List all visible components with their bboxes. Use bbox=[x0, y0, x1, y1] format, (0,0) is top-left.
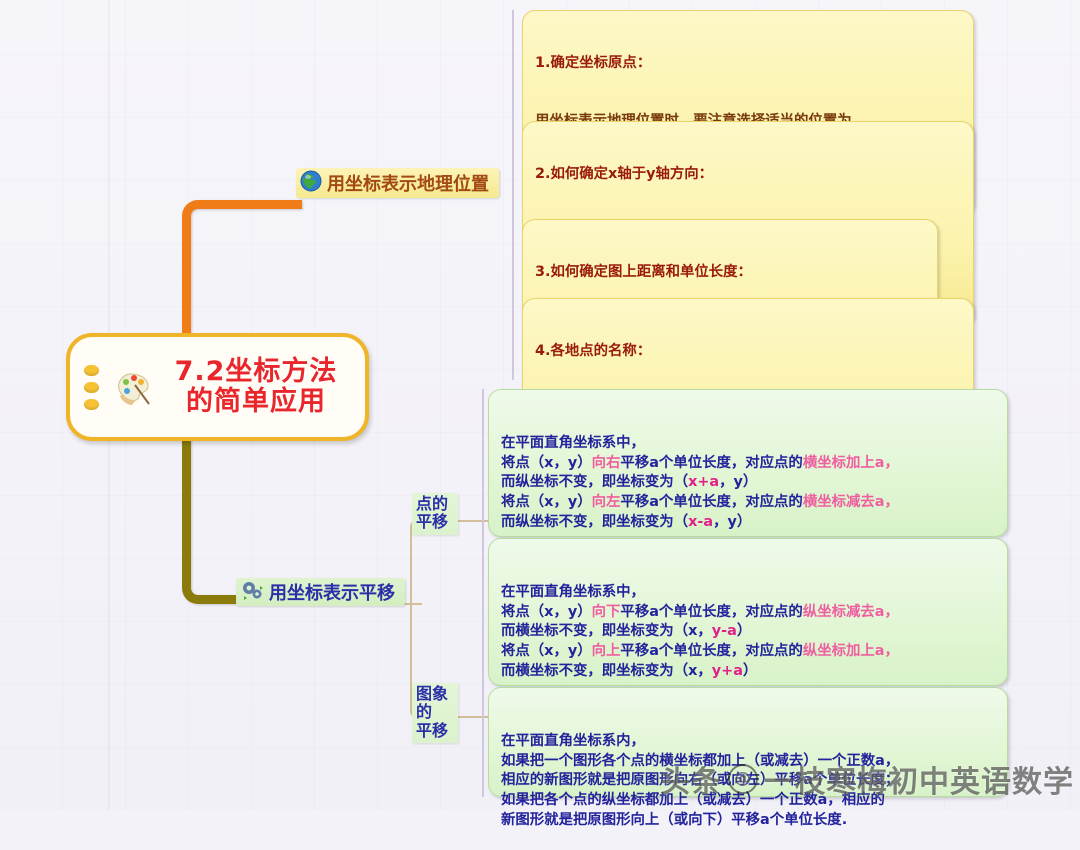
green-card-2-lines: 在平面直角坐标系中，将点（x，y）向下平移a个单位长度，对应点的纵坐标减去a，而… bbox=[501, 583, 997, 681]
watermark-name: 一枝寒梅初中英语数学 bbox=[764, 757, 1074, 801]
green-card-1-lines: 在平面直角坐标系中，将点（x，y）向右平移a个单位长度，对应点的横坐标加上a，而… bbox=[501, 434, 997, 532]
globe-icon bbox=[300, 170, 322, 196]
connector-stub bbox=[404, 603, 422, 605]
sub-branch-graph[interactable]: 图象 的 平移 bbox=[412, 683, 458, 743]
branch-geo[interactable]: 用坐标表示地理位置 bbox=[296, 168, 499, 198]
yellow-card-3-heading: 3.如何确定图上距离和单位长度： bbox=[535, 263, 927, 282]
palette-icon bbox=[111, 367, 155, 407]
sub-branch-graph-label: 图象 的 平移 bbox=[416, 684, 448, 740]
center-title-line2: 的简单应用 bbox=[155, 387, 357, 417]
sub-branch-point-label: 点的 平移 bbox=[416, 494, 448, 531]
watermark-prefix: 头条 bbox=[660, 757, 722, 801]
green-card-vertical-translation[interactable]: 在平面直角坐标系中，将点（x，y）向下平移a个单位长度，对应点的纵坐标减去a，而… bbox=[488, 538, 1008, 686]
branch-move[interactable]: 用坐标表示平移 bbox=[236, 578, 405, 606]
branch-geo-label: 用坐标表示地理位置 bbox=[327, 170, 489, 196]
green-card-point-translation[interactable]: 在平面直角坐标系中，将点（x，y）向右平移a个单位长度，对应点的横坐标加上a，而… bbox=[488, 389, 1008, 537]
rail-green-stack bbox=[482, 389, 484, 797]
center-title-line1: 7.2坐标方法 bbox=[155, 357, 357, 387]
watermark-at-icon: @ bbox=[728, 764, 758, 794]
watermark: 头条 @ 一枝寒梅初中英语数学 bbox=[660, 757, 1074, 801]
rail-yellow-stack bbox=[512, 10, 514, 380]
page-title: 7.2坐标方法 的简单应用 bbox=[155, 357, 365, 417]
central-node[interactable]: 7.2坐标方法 的简单应用 bbox=[66, 333, 369, 441]
gears-icon bbox=[240, 579, 264, 605]
yellow-card-2-heading: 2.如何确定x轴于y轴方向： bbox=[535, 165, 963, 184]
branch-move-label: 用坐标表示平移 bbox=[269, 579, 395, 605]
yellow-card-1-heading: 1.确定坐标原点： bbox=[535, 54, 963, 73]
sub-branch-point[interactable]: 点的 平移 bbox=[412, 493, 458, 535]
yellow-card-4-heading: 4.各地点的名称： bbox=[535, 342, 963, 361]
connector-to-move-branch bbox=[182, 424, 244, 604]
bullet-dots-icon bbox=[84, 365, 99, 410]
